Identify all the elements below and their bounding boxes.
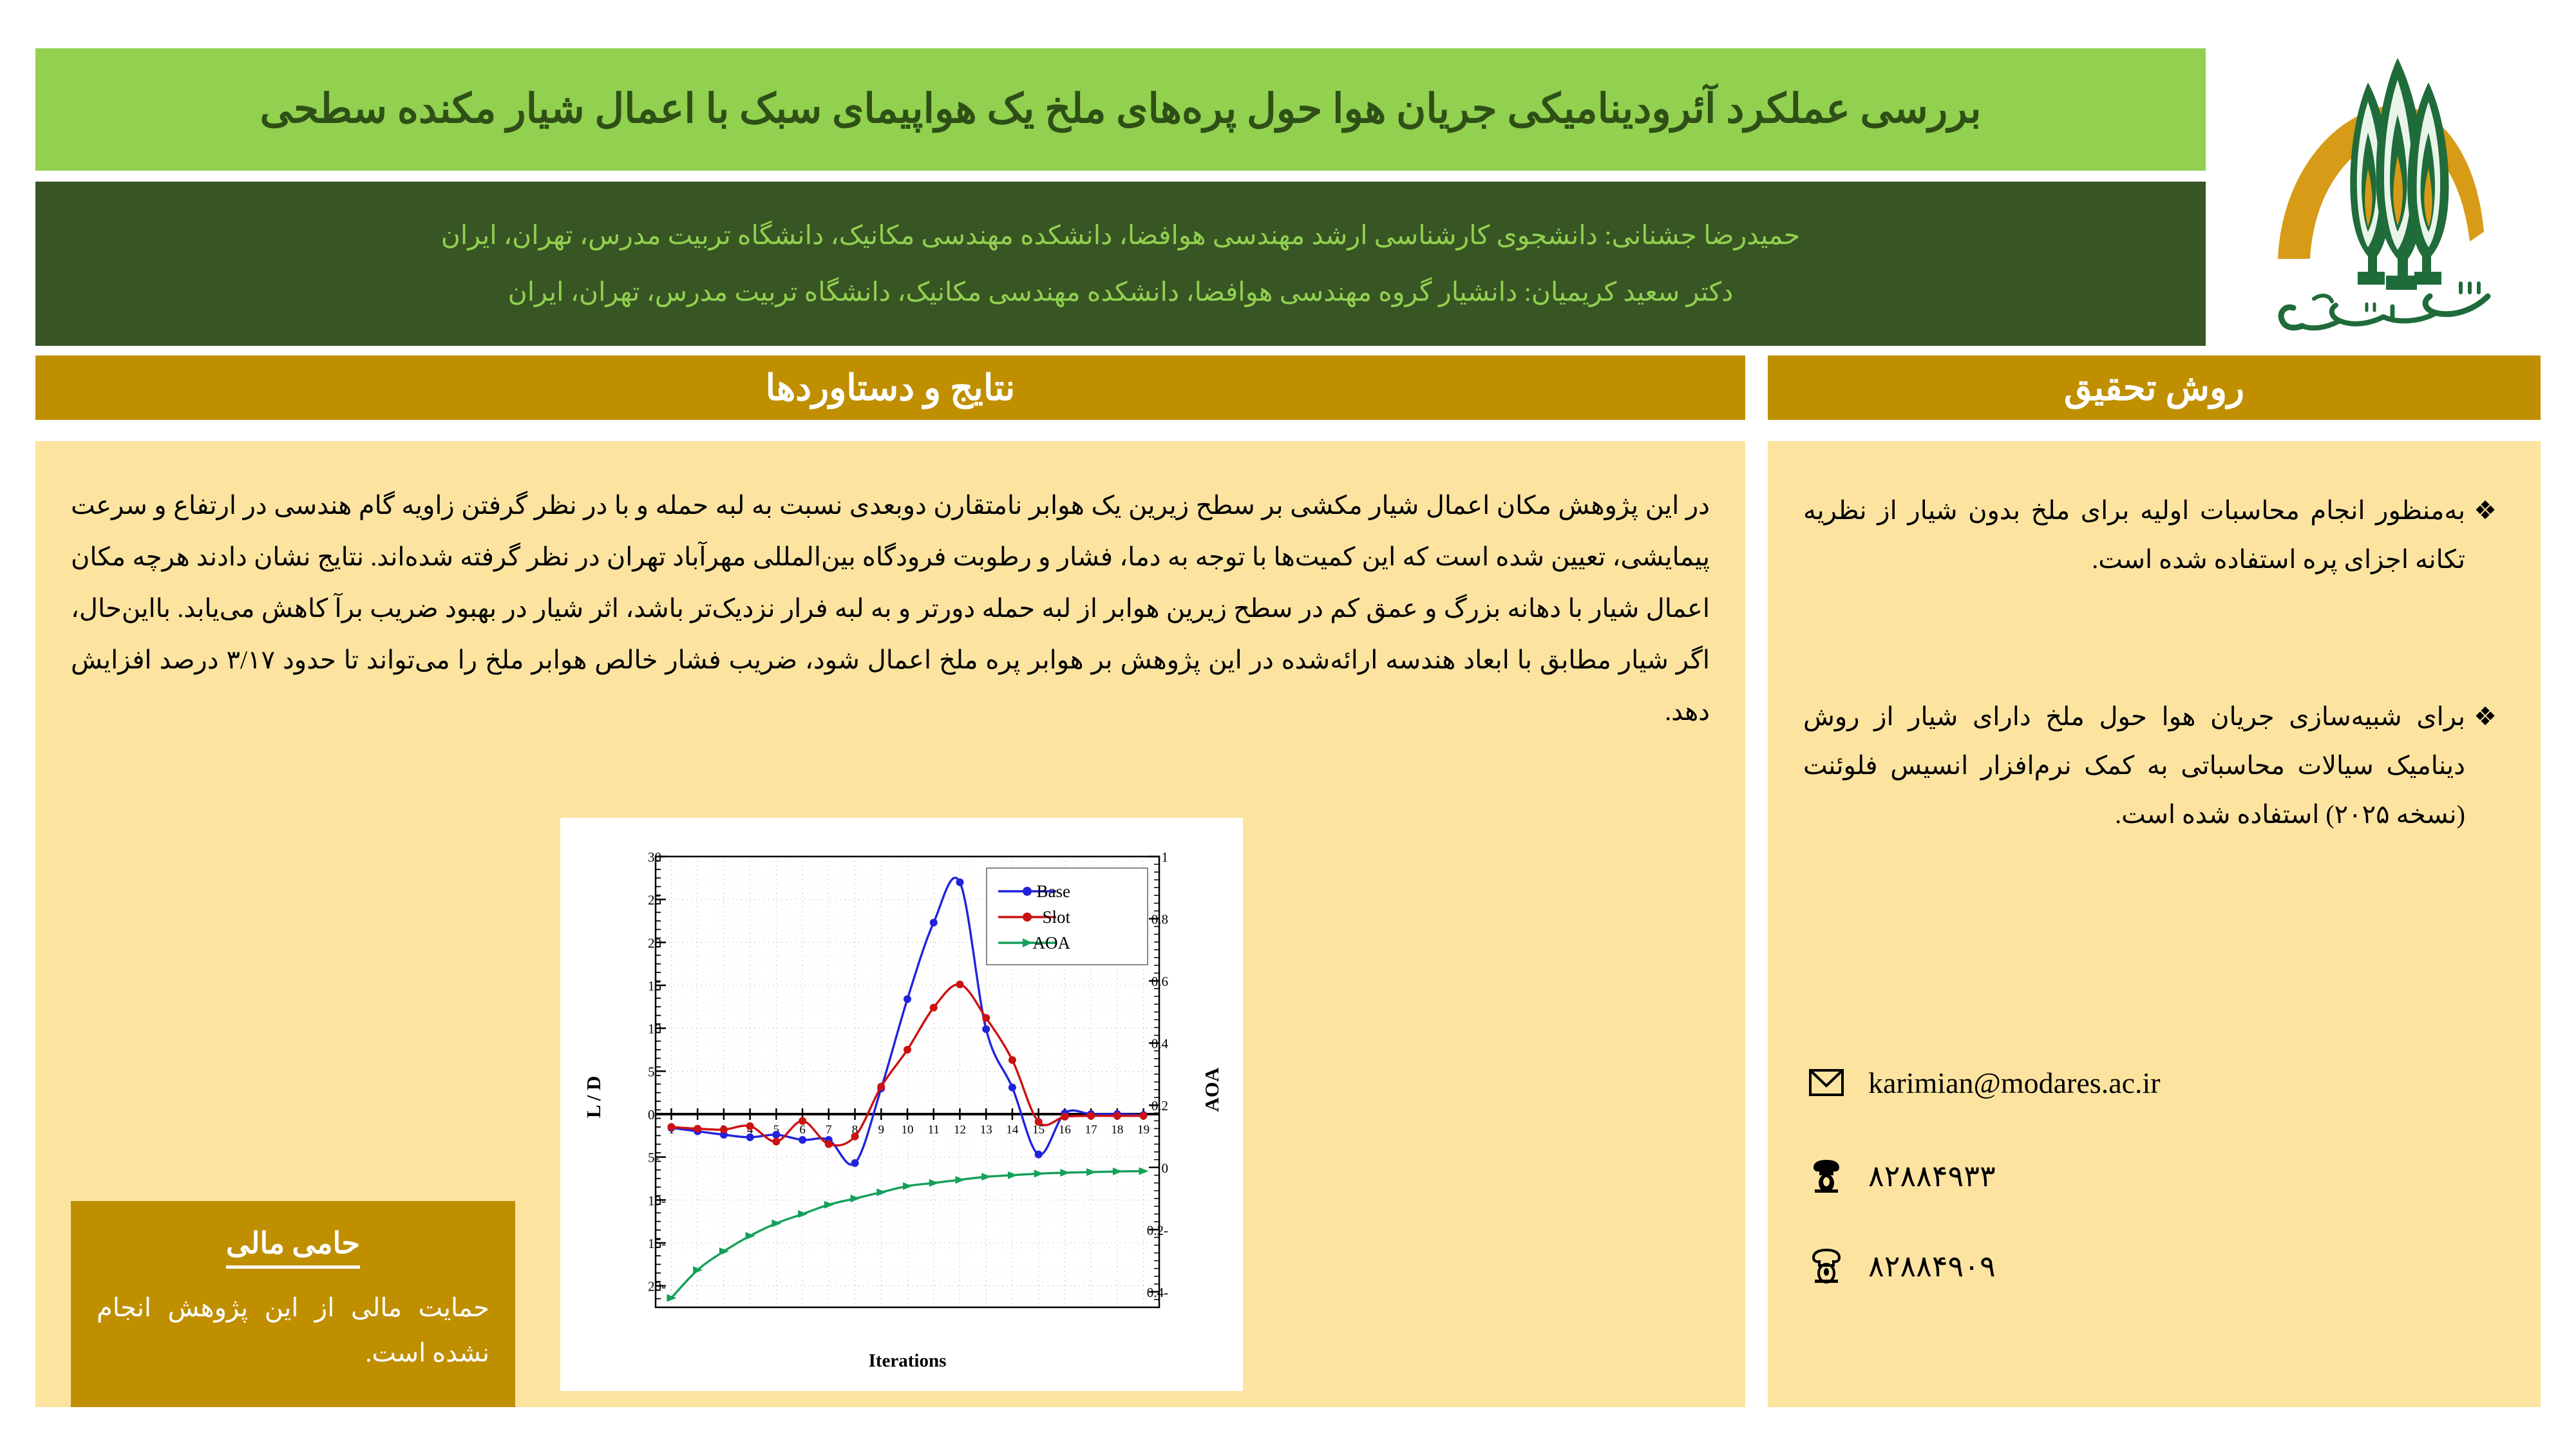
svg-text:16: 16 bbox=[1059, 1123, 1071, 1137]
telephone-filled-icon bbox=[1806, 1156, 1846, 1196]
svg-text:AOA: AOA bbox=[1200, 1067, 1223, 1112]
sponsor-title: حامی مالی bbox=[226, 1226, 360, 1269]
svg-text:-0.2: -0.2 bbox=[1147, 1222, 1168, 1238]
svg-text:18: 18 bbox=[1111, 1123, 1123, 1137]
method-bullet-2-text: برای شبیه‌سازی جریان هوا حول ملخ دارای ش… bbox=[1803, 692, 2465, 839]
section-header-results: نتایج و دستاوردها bbox=[35, 355, 1745, 420]
svg-text:30: 30 bbox=[648, 849, 661, 865]
svg-text:0.6: 0.6 bbox=[1151, 974, 1168, 989]
logo-wordmark bbox=[2281, 283, 2488, 328]
telephone-outline-icon bbox=[1806, 1246, 1846, 1286]
sponsor-body: حمایت مالی از این پژوهش انجام نشده است. bbox=[97, 1285, 489, 1376]
contact-telephone-value[interactable]: ۸۲۸۸۴۹۳۳ bbox=[1868, 1159, 1996, 1193]
svg-text:11: 11 bbox=[928, 1123, 940, 1137]
sponsor-box: حامی مالی حمایت مالی از این پژوهش انجام … bbox=[71, 1201, 515, 1407]
authors-band: حمیدرضا جشنانی: دانشجوی کارشناسی ارشد مه… bbox=[35, 182, 2206, 346]
section-header-method: روش تحقیق bbox=[1768, 355, 2541, 420]
svg-text:0.8: 0.8 bbox=[1151, 912, 1168, 927]
svg-text:0: 0 bbox=[648, 1107, 655, 1122]
svg-text:0.4: 0.4 bbox=[1151, 1036, 1169, 1052]
svg-text:17: 17 bbox=[1085, 1123, 1097, 1137]
svg-text:AOA: AOA bbox=[1033, 933, 1071, 952]
svg-text:L / D: L / D bbox=[582, 1076, 605, 1118]
method-bullet-2: ❖ برای شبیه‌سازی جریان هوا حول ملخ دارای… bbox=[1803, 692, 2505, 839]
author-line-2: دکتر سعید کریمیان: دانشیار گروه مهندسی ه… bbox=[80, 275, 2161, 309]
bullet-diamond-icon: ❖ bbox=[2465, 692, 2505, 839]
contact-telephone[interactable]: ۸۲۸۸۴۹۳۳ bbox=[1806, 1156, 1996, 1196]
svg-text:0: 0 bbox=[1162, 1160, 1169, 1176]
chart-container: 302520151050-5-10-15-2010.80.60.40.20-0.… bbox=[560, 818, 1243, 1391]
svg-text:10: 10 bbox=[902, 1123, 914, 1137]
poster-title-band: بررسی عملکرد آئرودینامیکی جریان هوا حول … bbox=[35, 48, 2206, 171]
envelope-icon bbox=[1806, 1063, 1846, 1103]
logo-tulips bbox=[2350, 58, 2448, 290]
contact-email-value[interactable]: karimian@modares.ac.ir bbox=[1868, 1066, 2161, 1100]
svg-text:19: 19 bbox=[1137, 1123, 1150, 1137]
results-panel: در این پژوهش مکان اعمال شیار مکشی بر سطح… bbox=[35, 441, 1745, 1407]
svg-text:13: 13 bbox=[980, 1123, 992, 1137]
svg-text:Slot: Slot bbox=[1042, 907, 1070, 927]
method-panel: ❖ به‌منظور انجام محاسبات اولیه برای ملخ … bbox=[1768, 441, 2541, 1407]
university-logo bbox=[2222, 13, 2563, 348]
svg-text:Base: Base bbox=[1037, 882, 1071, 901]
poster-root: بررسی عملکرد آئرودینامیکی جریان هوا حول … bbox=[0, 0, 2576, 1449]
contact-email[interactable]: karimian@modares.ac.ir bbox=[1806, 1063, 2161, 1103]
bullet-diamond-icon: ❖ bbox=[2465, 486, 2505, 584]
author-line-1: حمیدرضا جشنانی: دانشجوی کارشناسی ارشد مه… bbox=[80, 218, 2161, 252]
svg-text:-0.4: -0.4 bbox=[1147, 1285, 1168, 1300]
svg-text:0.2: 0.2 bbox=[1151, 1098, 1168, 1113]
page-title: بررسی عملکرد آئرودینامیکی جریان هوا حول … bbox=[260, 83, 1981, 136]
svg-text:7: 7 bbox=[826, 1123, 832, 1137]
svg-text:12: 12 bbox=[954, 1123, 966, 1137]
svg-text:1: 1 bbox=[1162, 849, 1169, 865]
svg-text:14: 14 bbox=[1006, 1123, 1019, 1137]
results-body-text: در این پژوهش مکان اعمال شیار مکشی بر سطح… bbox=[71, 480, 1710, 737]
svg-text:5: 5 bbox=[648, 1064, 655, 1079]
section-header-results-label: نتایج و دستاوردها bbox=[766, 367, 1016, 409]
svg-text:6: 6 bbox=[799, 1123, 806, 1137]
university-logo-icon bbox=[2231, 19, 2553, 341]
ld-aoa-line-chart: 302520151050-5-10-15-2010.80.60.40.20-0.… bbox=[560, 818, 1243, 1391]
contact-fax-value[interactable]: ۸۲۸۸۴۹۰۹ bbox=[1868, 1249, 1996, 1283]
svg-text:9: 9 bbox=[878, 1123, 885, 1137]
contact-fax[interactable]: ۸۲۸۸۴۹۰۹ bbox=[1806, 1246, 1996, 1286]
method-bullet-1: ❖ به‌منظور انجام محاسبات اولیه برای ملخ … bbox=[1803, 486, 2505, 584]
section-header-method-label: روش تحقیق bbox=[2064, 367, 2244, 409]
method-bullet-1-text: به‌منظور انجام محاسبات اولیه برای ملخ بد… bbox=[1803, 486, 2465, 584]
svg-text:Iterations: Iterations bbox=[869, 1350, 947, 1371]
